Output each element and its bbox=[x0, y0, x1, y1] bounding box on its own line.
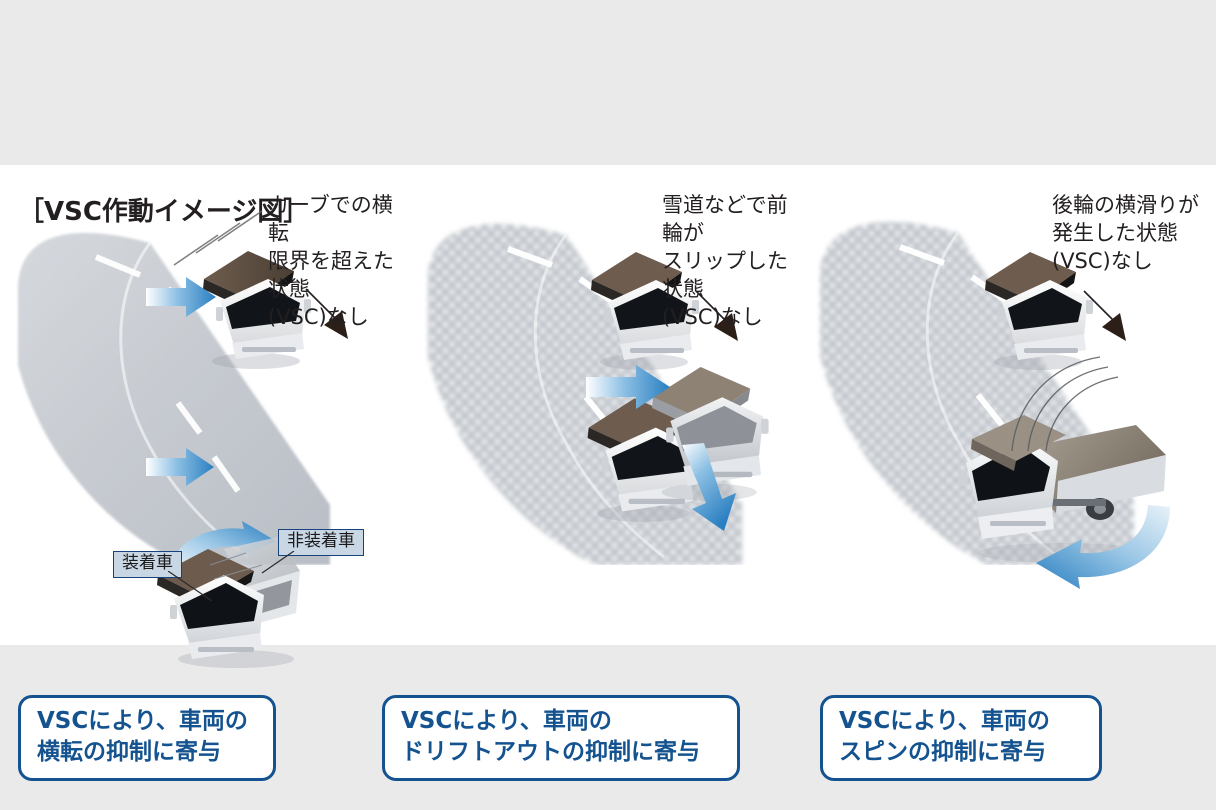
diagram-stage: ［VSC作動イメージ図］ bbox=[0, 0, 1216, 810]
callout-fitted-leader-icon bbox=[168, 571, 228, 611]
drift-out-arrow-icon bbox=[678, 443, 748, 533]
lateral-force-arrow-top-icon bbox=[146, 275, 218, 321]
callout-unfitted-label: 非装着車 bbox=[287, 531, 355, 551]
lateral-force-arrow-icon bbox=[146, 446, 216, 490]
panel-spin: 後輪の横滑りが 発生した状態 (VSC)なし bbox=[790, 165, 1216, 645]
panel-heading-spin: 後輪の横滑りが 発生した状態 (VSC)なし bbox=[1052, 191, 1199, 275]
panel-heading-drift-out: 雪道などで前輪が スリップした状態 (VSC)なし bbox=[662, 191, 790, 331]
caption-drift-out: VSCにより、車両の ドリフトアウトの抑制に寄与 bbox=[382, 695, 740, 781]
black-arrow-icon bbox=[1080, 287, 1146, 353]
callout-unfitted-leader-icon bbox=[258, 551, 298, 581]
top-letterbox-band bbox=[0, 0, 1216, 165]
caption-spin: VSCにより、車両の スピンの抑制に寄与 bbox=[820, 695, 1102, 781]
panel-heading-rollover: カーブでの横転 限界を超えた状態 (VSC)なし bbox=[268, 191, 408, 331]
understeer-arrow-icon bbox=[586, 363, 672, 413]
rotation-trail-arcs-icon bbox=[1004, 355, 1144, 455]
panel-rollover: 装着車 非装着車 カーブでの横転 限界を超えた状態 (VSC)なし bbox=[0, 165, 408, 645]
diagram-canvas: ［VSC作動イメージ図］ bbox=[0, 165, 1216, 645]
panel-drift-out: 雪道などで前輪が スリップした状態 (VSC)なし bbox=[390, 165, 790, 645]
callout-fitted-label: 装着車 bbox=[122, 553, 173, 573]
spin-direction-arrow-icon bbox=[1020, 501, 1180, 597]
caption-rollover: VSCにより、車両の 横転の抑制に寄与 bbox=[18, 695, 276, 781]
